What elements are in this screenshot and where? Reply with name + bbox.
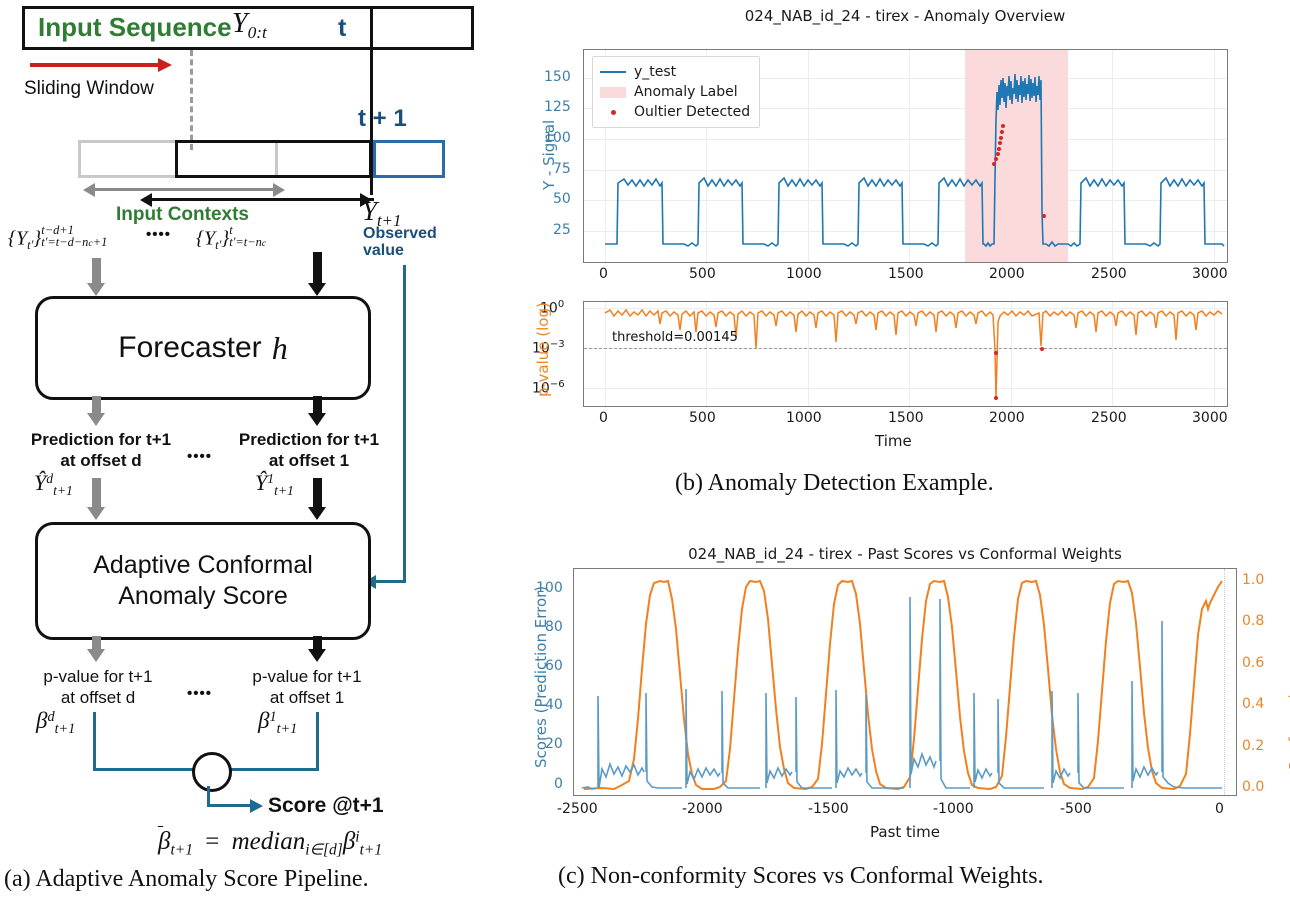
context-d-span-line	[95, 188, 275, 191]
signal-ylabel: Y - Signal	[540, 120, 558, 190]
legend-row-y-test: y_test	[600, 62, 750, 82]
signal-xtick: 2000	[989, 266, 1025, 282]
forecaster-symbol: h	[272, 330, 288, 367]
arrow-to-acas-1-head	[308, 507, 326, 520]
y-t-plus-1-base: Y	[362, 196, 377, 226]
input-sequence-math-base: Y	[232, 8, 248, 39]
panel-c-left-ytick: 0	[554, 776, 563, 792]
yhat-1-math: Ŷ1t+1	[255, 470, 294, 499]
panel-c-left-ylabel: Scores (Prediction Error)	[532, 586, 550, 768]
context-1-span-line	[152, 198, 374, 201]
panel-b-chart-title: 024_NAB_id_24 - tirex - Anomaly Overview	[520, 7, 1290, 25]
arrow-from-forecaster-1-line	[313, 396, 322, 414]
merge-left-horizontal	[93, 768, 193, 771]
outlier-dot	[998, 141, 1002, 145]
input-sequence-label: Input Sequence	[38, 12, 232, 43]
signal-ytick: 25	[553, 222, 571, 238]
signal-ytick: 125	[544, 99, 571, 115]
panel-b-caption: (b) Anomaly Detection Example.	[675, 470, 994, 497]
pvalue-offset-1-label: p-value for t+1 at offset 1	[222, 666, 392, 708]
panel-c-xtick: -1000	[933, 801, 974, 817]
outlier-dot	[996, 152, 1000, 156]
arrow-to-acas-d-line	[92, 478, 101, 508]
panel-a-pipeline-diagram: Input Sequence Y0:t t Sliding Window t +…	[0, 0, 520, 905]
pvalue-offset-d-line2: at offset d	[61, 688, 135, 707]
beta-1-math: β1t+1	[258, 708, 297, 738]
t-plus-1-label: t + 1	[358, 105, 407, 133]
pvalue-outlier-dot	[994, 396, 998, 400]
panel-c-scores-vs-weights: 024_NAB_id_24 - tirex - Past Scores vs C…	[520, 520, 1290, 905]
sliding-window-dashed-guide	[190, 50, 193, 150]
acas-line2: Anomaly Score	[118, 581, 288, 612]
panel-c-right-ytick: 0.0	[1242, 779, 1264, 795]
yhat-d-math: Ŷdt+1	[34, 470, 73, 499]
signal-xtick: 500	[689, 266, 716, 282]
arrow-from-forecaster-1-head	[308, 413, 326, 426]
observed-value-label: Observed value	[363, 225, 437, 259]
pvalue-xtick: 2500	[1091, 410, 1127, 426]
outlier-dot	[994, 157, 998, 161]
context-d-formula: {Yt′}t−d+1t′=t−d−nc+1	[8, 224, 107, 253]
beta-d-sup: d	[47, 709, 54, 725]
legend-dot	[611, 110, 616, 115]
beta-d-sub: t+1	[55, 721, 76, 737]
arrow-to-forecaster-d-head	[87, 283, 105, 296]
t-label: t	[338, 14, 346, 43]
merge-out-arrow	[250, 799, 263, 813]
pvalue-offset-d-label: p-value for t+1 at offset d	[13, 666, 183, 708]
pvalue-xtick: 500	[689, 410, 716, 426]
arrow-from-acas-1-head	[308, 649, 326, 662]
signal-axes: y_test Anomaly Label Oultier Detected	[583, 49, 1228, 263]
pvalue-axes: threshold=0.00145	[583, 301, 1228, 407]
signal-xtick: 2500	[1091, 266, 1127, 282]
sliding-window-label: Sliding Window	[24, 78, 154, 100]
pvalue-offset-1-line2: at offset 1	[270, 688, 344, 707]
pvalue-xtick: 3000	[1192, 410, 1228, 426]
pvalue-outlier-dot	[1040, 347, 1044, 351]
observed-value-text: Observed value	[363, 225, 437, 259]
input-sequence-math-sub: 0:t	[248, 23, 267, 42]
pvalue-threshold-label: threshold=0.00145	[612, 330, 738, 345]
outlier-dot	[1000, 130, 1004, 134]
merge-right-horizontal	[226, 768, 319, 771]
legend-label-anomaly: Anomaly Label	[634, 84, 738, 100]
arrow-from-forecaster-d-head	[87, 413, 105, 426]
legend-patch-swatch	[600, 87, 626, 98]
signal-ytick: 150	[544, 69, 571, 85]
panel-c-right-ytick: 0.6	[1242, 655, 1264, 671]
panel-c-right-ytick: 0.8	[1242, 613, 1264, 629]
outlier-dot	[992, 162, 996, 166]
sliding-window-arrow-head	[158, 58, 172, 72]
pvalue-series	[584, 302, 1227, 406]
score-label: Score @t+1	[268, 794, 384, 818]
scores-series	[574, 569, 1236, 795]
signal-ytick: 50	[553, 191, 571, 207]
adaptive-conformal-anomaly-score-box: Adaptive Conformal Anomaly Score	[35, 522, 371, 640]
sliding-window-arrow-line	[30, 63, 160, 67]
legend-dot-swatch	[600, 110, 626, 115]
context-rect-inner-divider	[175, 140, 178, 178]
merge-right-vertical	[316, 712, 319, 770]
outlier-dot	[1001, 124, 1005, 128]
pvalue-offset-d-line1: p-value for t+1	[43, 667, 152, 686]
panel-c-xtick: -2500	[557, 801, 598, 817]
signal-xtick: 3000	[1192, 266, 1228, 282]
panel-c-xtick: 0	[1215, 801, 1224, 817]
arrow-to-acas-d-head	[87, 507, 105, 520]
arrow-to-forecaster-1-line	[313, 252, 322, 284]
panel-c-right-ytick: 0.4	[1242, 696, 1264, 712]
yhat-d-sub: t+1	[53, 483, 73, 498]
context-ellipsis: ••••	[146, 226, 171, 243]
legend-label-y-test: y_test	[634, 64, 676, 80]
panel-c-right-ylabel: Conformal Weights	[1286, 695, 1290, 773]
merge-circle	[192, 752, 232, 792]
signal-legend: y_test Anomaly Label Oultier Detected	[592, 56, 760, 128]
arrow-from-forecaster-d-line	[92, 396, 101, 414]
pvalue-xtick: 2000	[989, 410, 1025, 426]
outlier-dot	[999, 136, 1003, 140]
yhat-1-sub: t+1	[274, 483, 294, 498]
beta-1-sub: t+1	[277, 721, 298, 737]
context-rect-next	[373, 140, 445, 178]
prediction-offset-d-label: Prediction for t+1 at offset d	[16, 429, 186, 471]
panel-c-xlabel: Past time	[870, 823, 940, 841]
panel-c-right-ytick: 0.2	[1242, 738, 1264, 754]
pvalue-ellipsis: ••••	[187, 685, 212, 702]
observed-value-connector-vertical	[403, 265, 406, 583]
signal-xtick: 0	[599, 266, 608, 282]
panel-c-chart-title: 024_NAB_id_24 - tirex - Past Scores vs C…	[520, 545, 1290, 563]
panel-c-xtick: -1500	[808, 801, 849, 817]
pvalue-xtick: 1000	[786, 410, 822, 426]
arrow-from-acas-d-line	[92, 636, 101, 650]
panel-c-right-ytick: 1.0	[1242, 572, 1264, 588]
sequence-divider-t	[370, 6, 373, 50]
context-rect-1	[175, 140, 372, 178]
signal-xtick: 1500	[888, 266, 924, 282]
panel-b-anomaly-detection: 024_NAB_id_24 - tirex - Anomaly Overview	[520, 0, 1290, 510]
legend-row-outlier: Oultier Detected	[600, 102, 750, 122]
context-d-span-arrow-right	[273, 183, 285, 197]
prediction-offset-1-label: Prediction for t+1 at offset 1	[224, 429, 394, 471]
prediction-offset-d-line1: Prediction for t+1	[31, 430, 171, 449]
arrow-to-acas-1-line	[313, 478, 322, 508]
pvalue-outlier-dot	[994, 351, 998, 355]
merge-out-horizontal	[207, 804, 251, 807]
prediction-offset-d-line2: at offset d	[60, 451, 141, 470]
arrow-to-forecaster-d-line	[92, 258, 101, 284]
panel-c-xtick: -500	[1060, 801, 1092, 817]
pvalue-offset-1-line1: p-value for t+1	[252, 667, 361, 686]
panel-a-caption: (a) Adaptive Anomaly Score Pipeline.	[4, 866, 369, 893]
legend-line-swatch	[600, 71, 626, 74]
panel-c-xtick: -2000	[682, 801, 723, 817]
observed-value-connector-horizontal	[375, 580, 406, 583]
legend-row-anomaly-label: Anomaly Label	[600, 82, 750, 102]
legend-label-outlier: Oultier Detected	[634, 104, 750, 120]
beta-1-base: β	[258, 708, 269, 733]
pvalue-xlabel: Time	[875, 432, 912, 450]
acas-line1: Adaptive Conformal	[93, 550, 313, 581]
signal-xtick: 1000	[786, 266, 822, 282]
context-1-formula: {Yt′}tt′=t−nc	[196, 224, 266, 253]
outlier-dot	[997, 147, 1001, 151]
merge-left-vertical	[93, 712, 96, 770]
arrow-from-acas-d-head	[87, 649, 105, 662]
pvalue-xtick: 1500	[888, 410, 924, 426]
outlier-dot	[1042, 214, 1046, 218]
beta-1-sup: 1	[269, 709, 276, 725]
prediction-offset-1-line2: at offset 1	[269, 451, 349, 470]
panel-c-axes	[573, 568, 1237, 796]
pvalue-threshold-line	[584, 348, 1227, 349]
forecaster-label: Forecaster	[118, 331, 261, 365]
beta-d-base: β	[36, 708, 47, 733]
panel-c-caption: (c) Non-conformity Scores vs Conformal W…	[558, 863, 1044, 890]
median-formula: β̄t+1 = mediani∈[d]βit+1	[158, 828, 382, 859]
beta-d-math: βdt+1	[36, 708, 75, 738]
prediction-offset-1-line1: Prediction for t+1	[239, 430, 379, 449]
forecaster-box: Forecaster h	[35, 296, 371, 400]
pvalue-ylabel: p-value (log)	[534, 302, 552, 397]
input-sequence-math: Y0:t	[232, 8, 267, 43]
prediction-ellipsis: ••••	[187, 448, 212, 465]
arrow-from-acas-1-line	[313, 636, 322, 650]
arrow-to-forecaster-1-head	[308, 283, 326, 296]
pvalue-xtick: 0	[599, 410, 608, 426]
context-d-span-arrow-left	[83, 183, 95, 197]
